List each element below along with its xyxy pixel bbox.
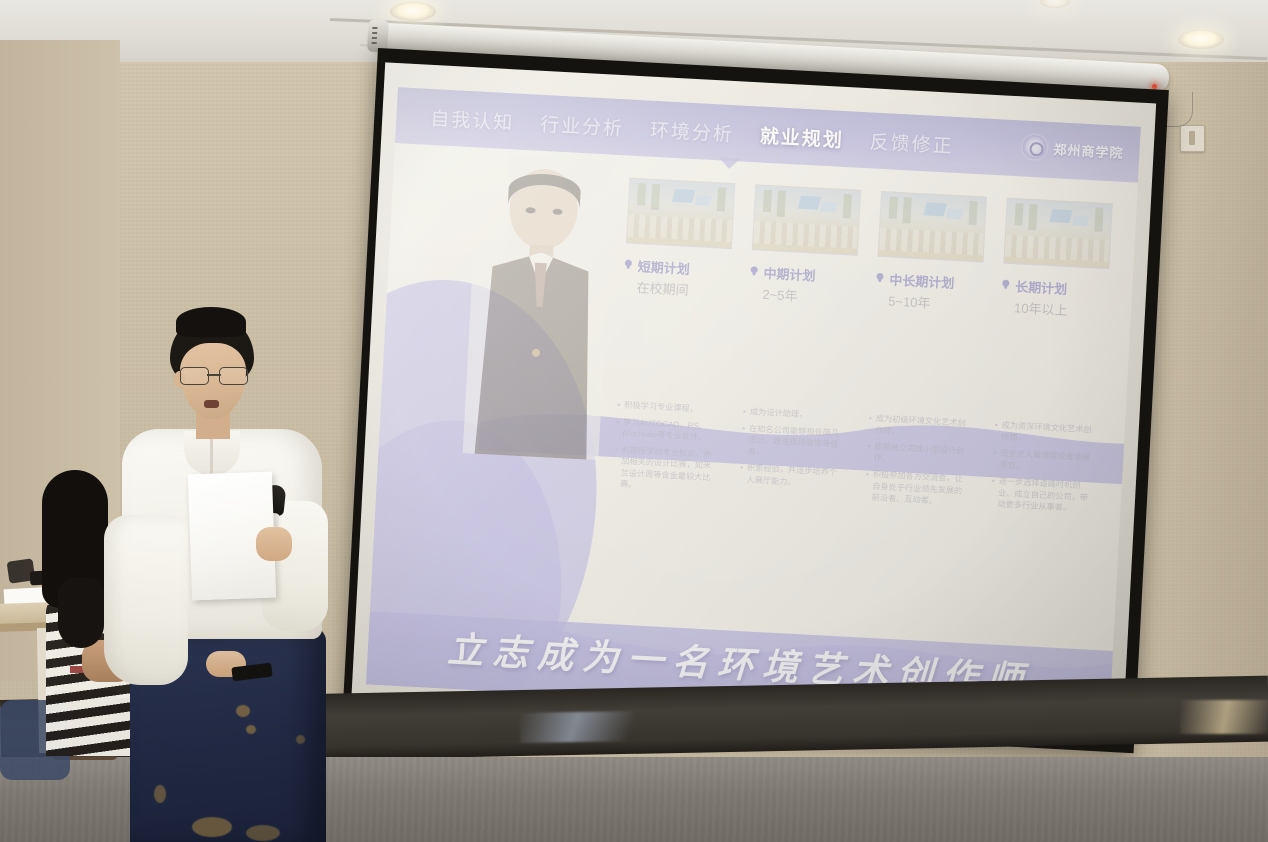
power-led-icon	[1152, 84, 1157, 89]
bullet-text: 在知名公司能够担任简几设计、跟进现场装饰等任务，	[748, 423, 847, 463]
bullet-dot-icon: ▪	[994, 419, 998, 442]
pin-icon	[876, 273, 883, 280]
plan-title: 短期计划	[637, 256, 690, 278]
bullet-text: 逐步进入管理层或者承接项目，	[999, 448, 1097, 476]
plan-cards: 短期计划 在校期间 中期计划	[619, 178, 1128, 394]
bullet-dot-icon: ▪	[864, 469, 869, 504]
bullet-item: ▪ 利用所学的专业知识，参加相关的设计比赛，如米兰设计周等含金量较大比赛。	[613, 444, 719, 495]
bullet-dot-icon: ▪	[868, 413, 872, 436]
nav-item-environment-analysis[interactable]: 环境分析	[649, 115, 734, 146]
bullet-item: ▪ 学习AUTOCAD、PS、procreate等专业软件，	[616, 416, 721, 445]
plan-thumbnail	[1003, 198, 1112, 270]
projector-screen-surface: 自我认知 行业分析 环境分析 就业规划 反馈修正 郑州商学院	[351, 62, 1156, 738]
plan-detail-column: ▪ 成为资深环境文化艺术创作师， ▪ 逐步进入管理层或者承接项目， ▪ 进一步选…	[990, 419, 1099, 520]
bullet-text: 利用所学的专业知识，参加相关的设计比赛，如米兰设计周等含金量较大比赛。	[620, 444, 719, 495]
presenter-hair-top	[176, 307, 246, 337]
plan-card: 中期计划 2~5年	[745, 184, 859, 379]
pin-icon	[625, 259, 632, 266]
school-emblem-icon	[1022, 134, 1047, 159]
skirt-embroidery	[296, 735, 305, 744]
portrait-photo	[463, 153, 615, 460]
skirt-embroidery	[192, 817, 232, 837]
plan-title: 中长期计划	[889, 270, 955, 292]
plan-thumbnail	[626, 178, 735, 250]
plan-card: 短期计划 在校期间	[619, 178, 733, 373]
plan-thumbnail	[752, 184, 861, 256]
skirt-embroidery	[246, 825, 280, 841]
plan-detail-column: ▪ 成为初级环境文化艺术创作师， ▪ 能够独立完成小型设计创作， ▪ 积极参加各…	[864, 413, 973, 514]
bullet-item: ▪ 成为初级环境文化艺术创作师，	[868, 413, 973, 442]
plan-detail-column: ▪ 成为设计助理， ▪ 在知名公司能够担任简几设计、跟进现场装饰等任务， ▪ 积…	[738, 406, 847, 507]
bullet-item: ▪ 进一步选择道路时机创业、成立自己的公司，带动更多行业从事者。	[990, 475, 1096, 515]
ceiling-spotlight	[1178, 30, 1224, 49]
bullet-text: 积极参加各方交流会，让自身处于行业领先发展的前沿者、互动者。	[871, 469, 970, 509]
bullet-text: 能够独立完成小型设计创作，	[873, 441, 971, 469]
plan-title: 中期计划	[763, 263, 816, 285]
plan-detail-column: ▪ 积极学习专业课程， ▪ 学习AUTOCAD、PS、procreate等专业软…	[613, 399, 722, 500]
plan-thumbnail	[878, 191, 987, 263]
presenter-sleeve-left	[104, 515, 188, 685]
pin-icon	[751, 266, 758, 273]
bullet-dot-icon: ▪	[743, 406, 746, 418]
pin-icon	[1002, 280, 1009, 287]
plan-title: 长期计划	[1015, 276, 1068, 298]
bullet-dot-icon: ▪	[739, 462, 743, 485]
stage-reflection	[1180, 700, 1268, 734]
presenter-mouth	[204, 400, 219, 408]
bullet-item: ▪ 成为资深环境文化艺术创作师，	[994, 419, 1099, 448]
bullet-item: ▪ 在知名公司能够担任简几设计、跟进现场装饰等任务，	[741, 422, 847, 462]
presentation-photo-scene: Medical 自我认知 行业分析 环境	[0, 0, 1268, 842]
skirt-embroidery	[236, 705, 250, 717]
nav-item-self-cognition[interactable]: 自我认知	[430, 103, 515, 134]
bullet-text: 成为初级环境文化艺术创作师，	[875, 413, 973, 441]
bullet-text: 成为资深环境文化艺术创作师，	[1001, 420, 1099, 448]
bullet-text: 成为设计助理，	[750, 406, 808, 421]
bullet-item: ▪ 能够独立完成小型设计创作，	[867, 441, 972, 470]
presenter-hand-holding-mic	[256, 527, 292, 561]
nav-item-industry-analysis[interactable]: 行业分析	[540, 109, 625, 140]
bullet-item: ▪ 积极参加各方交流会，让自身处于行业领先发展的前沿者、互动者。	[864, 469, 970, 509]
plan-card: 中长期计划 5~10年	[871, 191, 985, 386]
nav-item-career-planning[interactable]: 就业规划	[759, 121, 844, 152]
ceiling-spotlight	[390, 2, 436, 21]
presenter	[96, 305, 366, 842]
presentation-slide: 自我认知 行业分析 环境分析 就业规划 反馈修正 郑州商学院	[366, 87, 1141, 724]
glasses-icon	[180, 367, 248, 384]
roller-vent-dots	[372, 27, 378, 45]
bullet-text: 积累经验，并逐步培养个人展厅能力。	[746, 462, 844, 490]
plan-period: 2~5年	[762, 284, 854, 308]
bullet-dot-icon: ▪	[616, 416, 620, 439]
plan-period: 5~10年	[888, 291, 980, 315]
bullet-dot-icon: ▪	[992, 447, 996, 470]
bullet-item: ▪ 积累经验，并逐步培养个人展厅能力。	[739, 462, 844, 491]
bullet-item: ▪ 逐步进入管理层或者承接项目，	[992, 447, 1097, 476]
plan-period: 10年以上	[1014, 297, 1106, 321]
bullet-dot-icon: ▪	[990, 475, 995, 510]
stage-reflection	[520, 711, 641, 743]
projector-screen-frame: 自我认知 行业分析 环境分析 就业规划 反馈修正 郑州商学院	[343, 48, 1169, 753]
active-tab-indicator	[718, 157, 741, 169]
bullet-text: 进一步选择道路时机创业、成立自己的公司，带动更多行业从事者。	[997, 476, 1096, 516]
nav-item-feedback-revision[interactable]: 反馈修正	[869, 127, 954, 158]
plan-card: 长期计划 10年以上	[997, 198, 1111, 393]
skirt-embroidery	[246, 725, 256, 734]
bullet-text: 学习AUTOCAD、PS、procreate等专业软件，	[622, 416, 720, 444]
skirt-embroidery	[154, 785, 166, 803]
plan-period: 在校期间	[636, 277, 728, 301]
school-name: 郑州商学院	[1053, 139, 1124, 162]
bullet-dot-icon: ▪	[617, 399, 620, 411]
wall-switch-plate[interactable]	[1180, 125, 1205, 152]
bullet-dot-icon: ▪	[867, 441, 871, 464]
bullet-dot-icon: ▪	[741, 422, 746, 457]
